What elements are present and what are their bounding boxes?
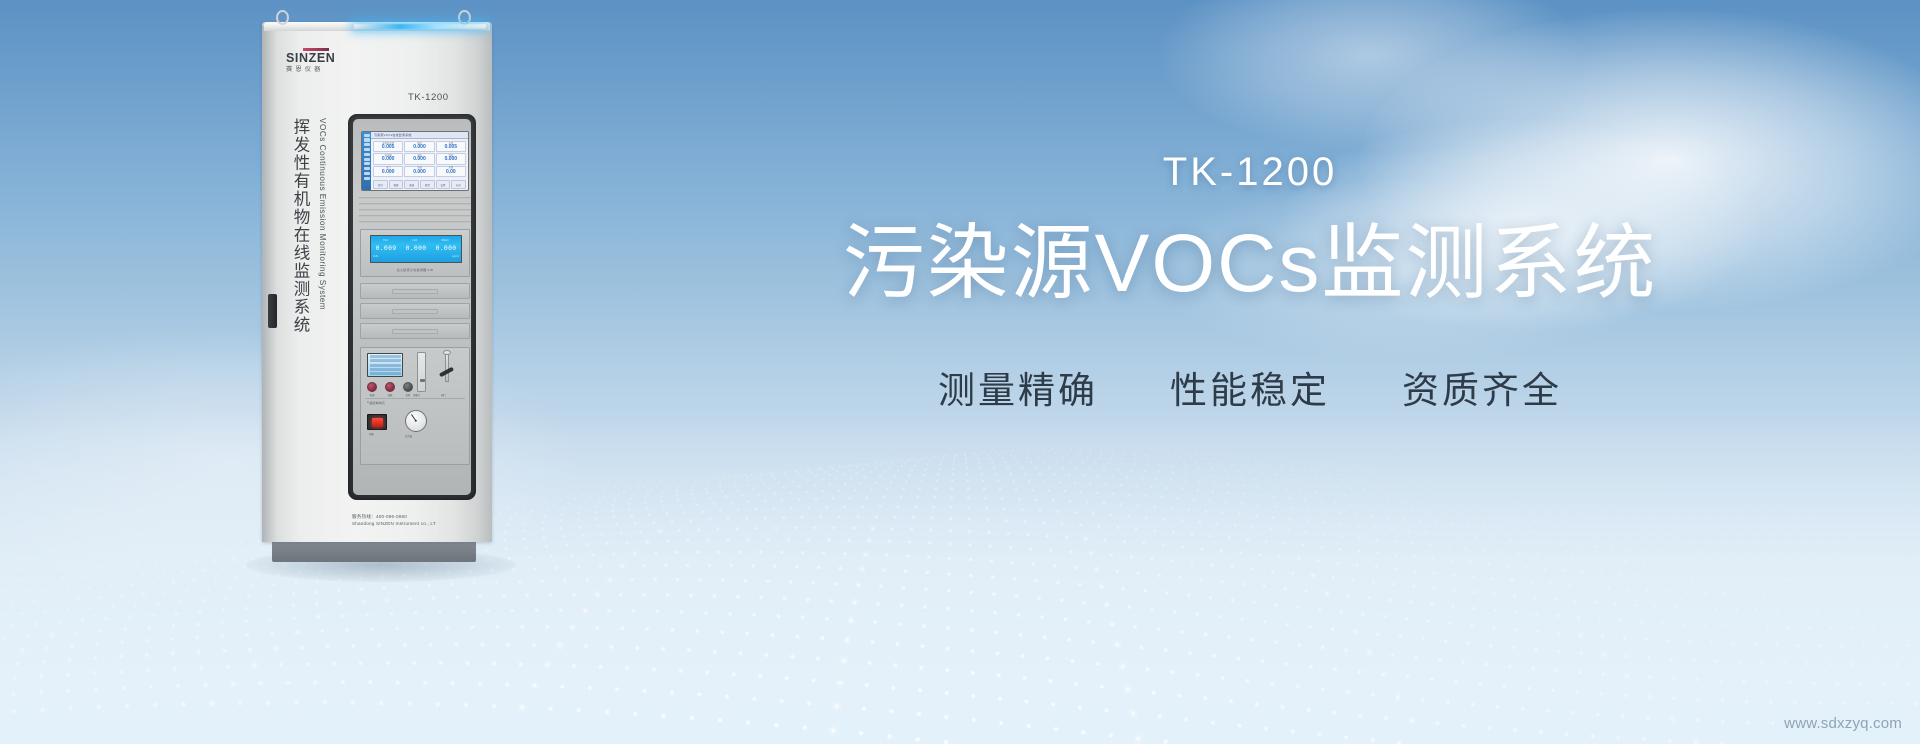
- hmi-readout-value: 0.000: [382, 170, 395, 176]
- hmi-readout-cell: 湿度0.000: [436, 153, 466, 164]
- vent-slot: [359, 197, 471, 199]
- brand-name: SINZEN: [286, 52, 356, 65]
- analyzer-lcd-status: RUN: [373, 255, 378, 258]
- blank-drawer-panel: [360, 303, 470, 319]
- pressure-gauge-label: 压力表: [405, 434, 412, 438]
- knob-label: 电源: [363, 393, 381, 397]
- analyzer-channel-label: NMHC: [441, 239, 449, 242]
- gas-analyzer-module: THCCH4NMHC 0.0090.0000.000 RUN mg/m3 氢火焰…: [360, 229, 470, 277]
- hmi-readout-grid: 非甲烷总烃0.005甲烷0.000总烃0.005氧含量0.000温度0.000湿…: [372, 140, 467, 178]
- site-watermark: www.sdxzyq.com: [1784, 715, 1902, 732]
- hmi-function-key[interactable]: 标定: [451, 180, 466, 189]
- cloud-decoration: [1160, 0, 1580, 150]
- analyzer-channel-label: CH4: [412, 239, 417, 242]
- hmi-touchscreen[interactable]: 污染源VOCs在线监测系统 非甲烷总烃0.005甲烷0.000总烃0.005氧含…: [361, 131, 469, 191]
- lifting-eyelet-icon: [276, 10, 289, 25]
- hmi-readout-value: 0.00: [446, 170, 456, 176]
- brand-logo: SINZEN 赛恩仪器: [286, 48, 356, 73]
- analyzer-channel-value: 0.000: [406, 244, 427, 252]
- instrument-bay: 污染源VOCs在线监测系统 非甲烷总烃0.005甲烷0.000总烃0.005氧含…: [348, 114, 476, 500]
- hmi-function-key[interactable]: 报警: [420, 180, 435, 189]
- banner-feature-2: 性能稳定: [1170, 360, 1330, 414]
- lcd-row: [370, 368, 401, 371]
- cabinet-vertical-text-cn: 挥发性有机物在线监测系统: [288, 118, 312, 418]
- drawer-slot: [392, 329, 438, 334]
- power-switch-label: 电源: [369, 432, 374, 436]
- hmi-readout-cell: 总烃0.005: [436, 141, 466, 152]
- product-cabinet: SINZEN 赛恩仪器 TK-1200 挥发性有机物在线监测系统 VOCs Co…: [262, 22, 492, 562]
- lcd-row: [370, 355, 401, 358]
- hmi-function-key[interactable]: 数据: [389, 180, 404, 189]
- control-knob-power[interactable]: [367, 382, 377, 392]
- control-panel-lcd: [367, 353, 403, 377]
- hmi-readout-cell: 流量0.00: [436, 166, 466, 177]
- flow-meter-float: [420, 379, 425, 382]
- hmi-side-button[interactable]: [364, 134, 370, 137]
- analyzer-channel-label: THC: [383, 239, 388, 242]
- panel-divider: [365, 398, 465, 399]
- hmi-function-key[interactable]: 曲线: [404, 180, 419, 189]
- power-switch[interactable]: [367, 414, 387, 430]
- hmi-readout-value: 0.005: [445, 145, 458, 151]
- hmi-side-button[interactable]: [364, 153, 370, 156]
- analyzer-lcd-display: THCCH4NMHC 0.0090.0000.000 RUN mg/m3: [370, 235, 462, 263]
- cabinet-model-label: TK-1200: [408, 92, 449, 103]
- cabinet-side-panel: [262, 26, 276, 542]
- flow-meter-label: 流量计: [413, 393, 420, 397]
- hmi-readout-value: 0.000: [413, 145, 426, 151]
- hmi-readout-cell: 非甲烷总烃0.005: [373, 141, 403, 152]
- cabinet-door-handle[interactable]: [268, 294, 277, 328]
- banner-model: TK-1200: [690, 150, 1810, 195]
- blank-drawer-panel: [360, 283, 470, 299]
- instrument-bay-inner: 污染源VOCs在线监测系统 非甲烷总烃0.005甲烷0.000总烃0.005氧含…: [353, 119, 471, 495]
- hmi-side-button[interactable]: [364, 162, 370, 165]
- hmi-side-button[interactable]: [364, 177, 370, 180]
- control-panel: 电源 加热 采样 流量计 阀门 气路控制单元: [360, 347, 470, 465]
- hmi-header: 污染源VOCs在线监测系统: [371, 132, 468, 139]
- lcd-row: [370, 359, 401, 362]
- vent-slot: [359, 203, 471, 205]
- banner-copy: TK-1200 污染源VOCs监测系统 测量精确性能稳定资质齐全: [690, 150, 1810, 414]
- banner-feature-1: 测量精确: [938, 360, 1098, 414]
- service-hotline: 服务热线：400-096-0980: [352, 514, 482, 521]
- hmi-readout-cell: 氧含量0.000: [373, 153, 403, 164]
- hmi-readout-cell: 甲烷0.000: [404, 141, 434, 152]
- hmi-side-button[interactable]: [364, 167, 370, 170]
- drawer-slot: [392, 289, 438, 294]
- analyzer-lcd-labels: THCCH4NMHC: [371, 236, 461, 242]
- lcd-row: [370, 372, 401, 375]
- pressure-gauge: [405, 410, 427, 432]
- hmi-side-button[interactable]: [364, 172, 370, 175]
- hmi-side-button[interactable]: [364, 158, 370, 161]
- analyzer-caption: 氢火焰离子化检测器 FID: [361, 268, 469, 272]
- lifting-eyelet-icon: [458, 10, 471, 25]
- banner-headline: 污染源VOCs监测系统: [690, 221, 1810, 308]
- hmi-readout-cell: 压力0.000: [373, 166, 403, 177]
- banner-feature-3: 资质齐全: [1402, 360, 1562, 414]
- valve-label: 阀门: [441, 393, 446, 397]
- control-knob-heater[interactable]: [385, 382, 395, 392]
- hmi-function-key[interactable]: 首页: [373, 180, 388, 189]
- vent-slot: [359, 215, 471, 217]
- hmi-side-button[interactable]: [364, 148, 370, 151]
- hmi-side-button[interactable]: [364, 143, 370, 146]
- hmi-function-key[interactable]: 设置: [436, 180, 451, 189]
- gauge-hub: [415, 420, 417, 422]
- hmi-side-menu[interactable]: [362, 132, 371, 190]
- status-light: [354, 24, 486, 29]
- analyzer-lcd-footer: RUN mg/m3: [371, 255, 461, 258]
- power-led-icon: [372, 418, 383, 427]
- lcd-row: [370, 364, 401, 367]
- cabinet-vertical-text-en: VOCs Continuous Emission Monitoring Syst…: [318, 118, 327, 408]
- analyzer-lcd-unit: mg/m3: [452, 255, 459, 258]
- brand-name-cn: 赛恩仪器: [286, 67, 356, 73]
- knob-label: 加热: [381, 393, 399, 397]
- hmi-readout-cell: 流速0.000: [404, 166, 434, 177]
- hmi-readout-cell: 温度0.000: [404, 153, 434, 164]
- analyzer-lcd-values: 0.0090.0000.000: [371, 242, 461, 255]
- analyzer-channel-value: 0.000: [436, 244, 457, 252]
- vent-slot: [359, 209, 471, 211]
- hmi-title: 污染源VOCs在线监测系统: [371, 132, 468, 137]
- hmi-readout-value: 0.000: [413, 170, 426, 176]
- vent-slot: [359, 221, 471, 223]
- hmi-readout-value: 0.000: [445, 157, 458, 163]
- banner-feature-list: 测量精确性能稳定资质齐全: [690, 360, 1810, 414]
- flow-meter: [417, 352, 426, 392]
- banner-stage: SINZEN 赛恩仪器 TK-1200 挥发性有机物在线监测系统 VOCs Co…: [0, 0, 1920, 744]
- hmi-readout-value: 0.000: [413, 157, 426, 163]
- control-knob-sample[interactable]: [403, 382, 413, 392]
- blank-drawer-panel: [360, 323, 470, 339]
- company-name-en: Shandong SINZEN Instrument co., LT: [352, 521, 482, 528]
- hmi-readout-value: 0.000: [382, 157, 395, 163]
- hmi-key-bar[interactable]: 首页数据曲线报警设置标定: [372, 179, 467, 190]
- analyzer-channel-value: 0.009: [376, 244, 397, 252]
- control-panel-sublabel: 气路控制单元: [367, 401, 385, 405]
- service-contact-label: 服务热线：400-096-0980 Shandong SINZEN Instru…: [352, 514, 482, 528]
- drawer-slot: [392, 309, 438, 314]
- hmi-side-button[interactable]: [364, 138, 370, 141]
- hmi-readout-value: 0.005: [382, 145, 395, 151]
